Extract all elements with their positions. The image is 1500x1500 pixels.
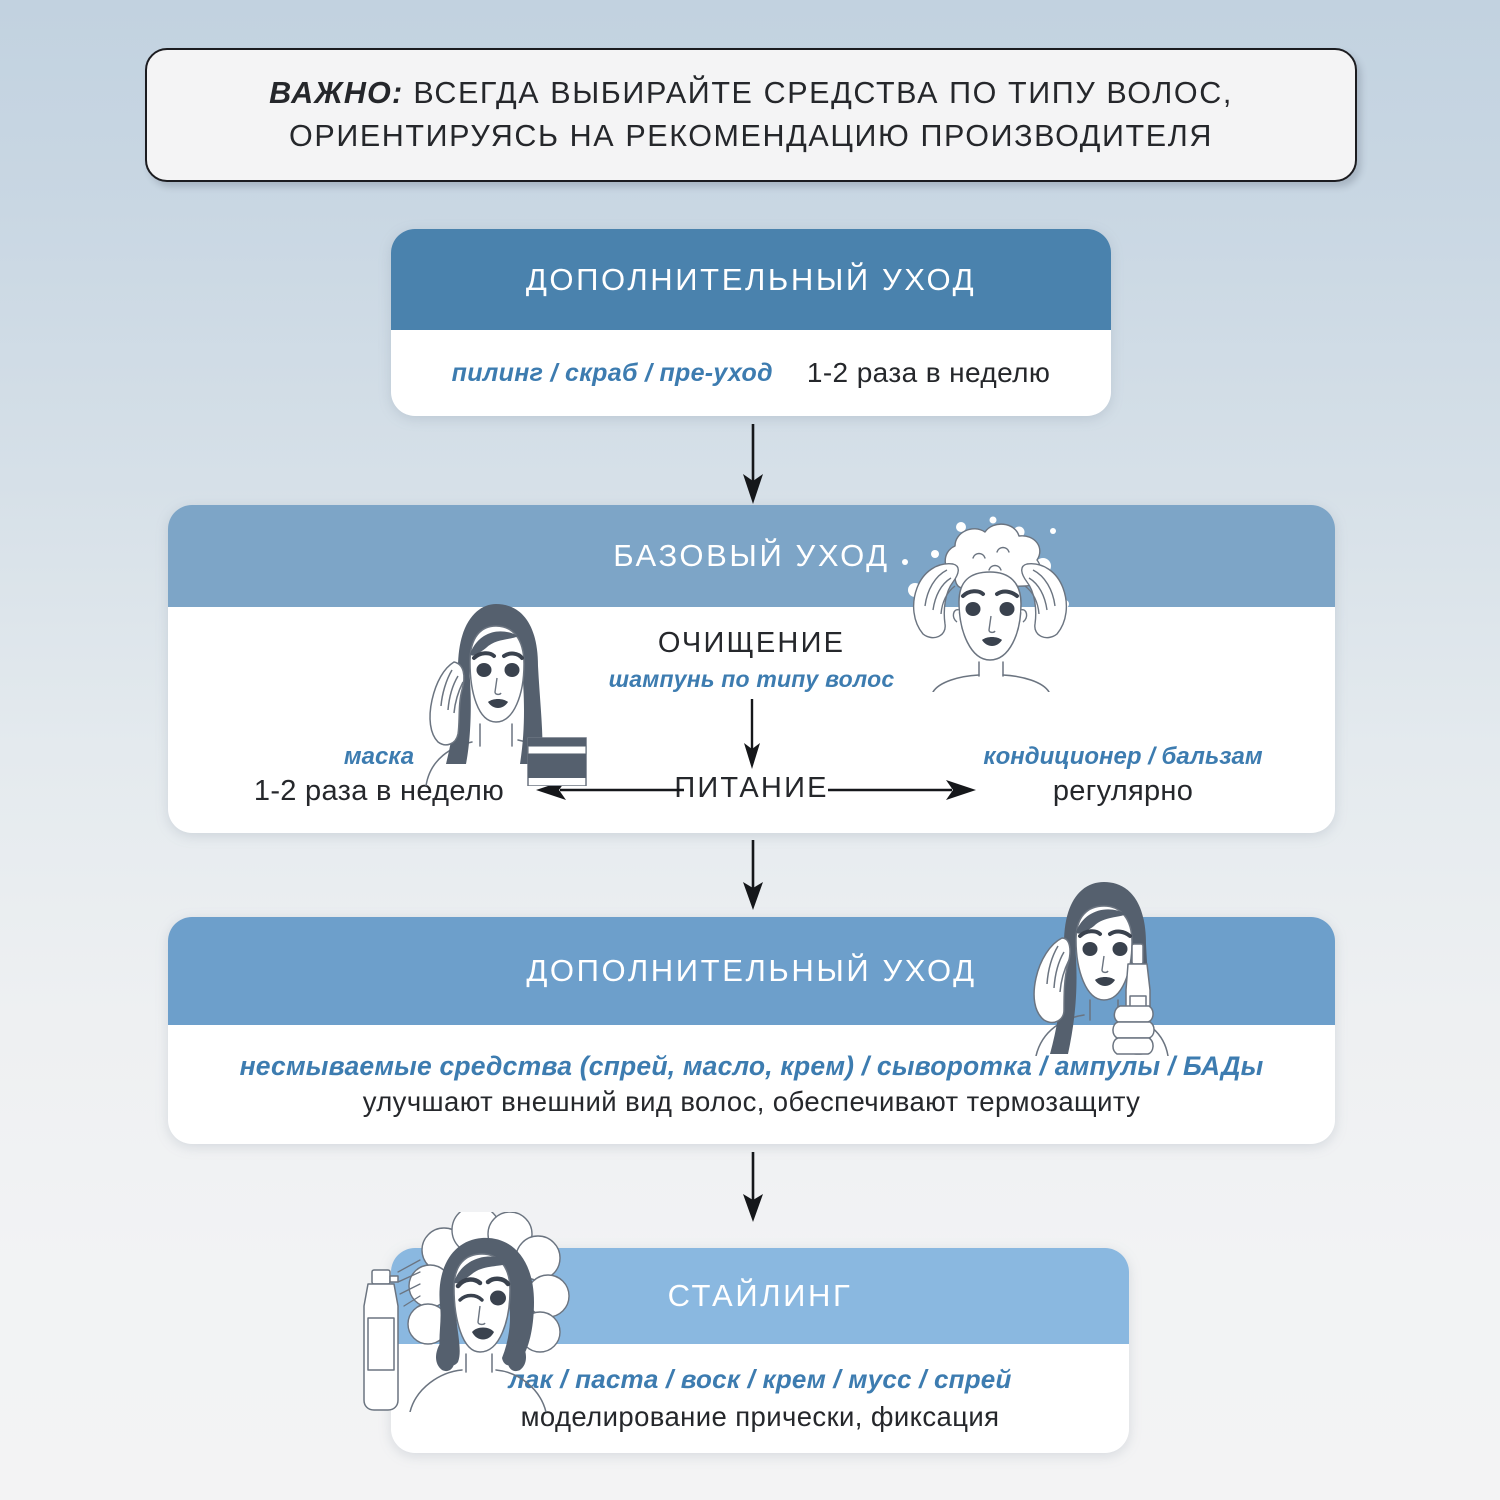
card-additional-care-bottom-body: несмываемые средства (спрей, масло, крем… [168,1025,1335,1144]
arrow-cleansing-to-nutrition [736,699,768,771]
mask-products: маска [204,743,554,771]
card-additional-care-top: ДОПОЛНИТЕЛЬНЫЙ УХОД пилинг / скраб / пре… [391,229,1111,416]
card-styling-body: лак / паста / воск / крем / мусс / спрей… [391,1344,1129,1453]
card-additional-care-top-products: пилинг / скраб / пре-уход [452,359,773,388]
card-additional-care-bottom-title: ДОПОЛНИТЕЛЬНЫЙ УХОД [526,953,976,989]
card-base-care-title: БАЗОВЫЙ УХОД [613,538,889,574]
important-note-prefix: ВАЖНО: [269,76,403,110]
card-additional-care-bottom-products: несмываемые средства (спрей, масло, крем… [240,1051,1264,1082]
card-additional-care-top-title: ДОПОЛНИТЕЛЬНЫЙ УХОД [526,262,976,298]
cleansing-block: ОЧИЩЕНИЕ шампунь по типу волос [168,627,1335,693]
mask-block: маска 1-2 раза в неделю [204,743,554,808]
conditioner-products: кондиционер / бальзам [933,743,1313,771]
card-additional-care-bottom-header: ДОПОЛНИТЕЛЬНЫЙ УХОД [168,917,1335,1025]
card-styling-benefit: моделирование прически, фиксация [521,1401,1000,1433]
important-note-line-2: ОРИЕНТИРУЯСЬ НА РЕКОМЕНДАЦИЮ ПРОИЗВОДИТЕ… [289,115,1213,158]
card-styling-title: СТАЙЛИНГ [668,1278,853,1314]
card-styling-products: лак / паста / воск / крем / мусс / спрей [508,1364,1011,1395]
card-additional-care-top-body: пилинг / скраб / пре-уход 1-2 раза в нед… [391,330,1111,416]
arrow-card2-to-card3 [733,840,773,912]
infographic-canvas: ВАЖНО: ВСЕГДА ВЫБИРАЙТЕ СРЕДСТВА ПО ТИПУ… [0,0,1500,1500]
cleansing-products: шампунь по типу волос [168,666,1335,693]
card-base-care-header: БАЗОВЫЙ УХОД [168,505,1335,607]
conditioner-block: кондиционер / бальзам регулярно [933,743,1313,808]
conditioner-frequency: регулярно [933,775,1313,808]
card-additional-care-bottom-benefit: улучшают внешний вид волос, обеспечивают… [363,1086,1141,1118]
card-base-care-body: ОЧИЩЕНИЕ шампунь по типу волос ПИТАНИЕ м… [168,607,1335,833]
arrow-nutrition-to-mask [536,775,684,805]
card-additional-care-top-header: ДОПОЛНИТЕЛЬНЫЙ УХОД [391,229,1111,330]
card-base-care: БАЗОВЫЙ УХОД ОЧИЩЕНИЕ шампунь по типу во… [168,505,1335,833]
mask-frequency: 1-2 раза в неделю [204,775,554,808]
card-styling-header: СТАЙЛИНГ [391,1248,1129,1344]
card-styling: СТАЙЛИНГ лак / паста / воск / крем / мус… [391,1248,1129,1453]
important-note-line-1: ВАЖНО: ВСЕГДА ВЫБИРАЙТЕ СРЕДСТВА ПО ТИПУ… [269,72,1233,115]
important-note-box: ВАЖНО: ВСЕГДА ВЫБИРАЙТЕ СРЕДСТВА ПО ТИПУ… [145,48,1357,182]
arrow-card3-to-card4 [733,1152,773,1224]
nutrition-label: ПИТАНИЕ [674,772,828,805]
card-additional-care-top-frequency: 1-2 раза в неделю [807,357,1050,389]
important-note-line-1-rest: ВСЕГДА ВЫБИРАЙТЕ СРЕДСТВА ПО ТИПУ ВОЛОС, [403,76,1233,110]
cleansing-label: ОЧИЩЕНИЕ [168,627,1335,660]
arrow-card1-to-card2 [733,424,773,506]
card-additional-care-bottom: ДОПОЛНИТЕЛЬНЫЙ УХОД несмываемые средства… [168,917,1335,1144]
